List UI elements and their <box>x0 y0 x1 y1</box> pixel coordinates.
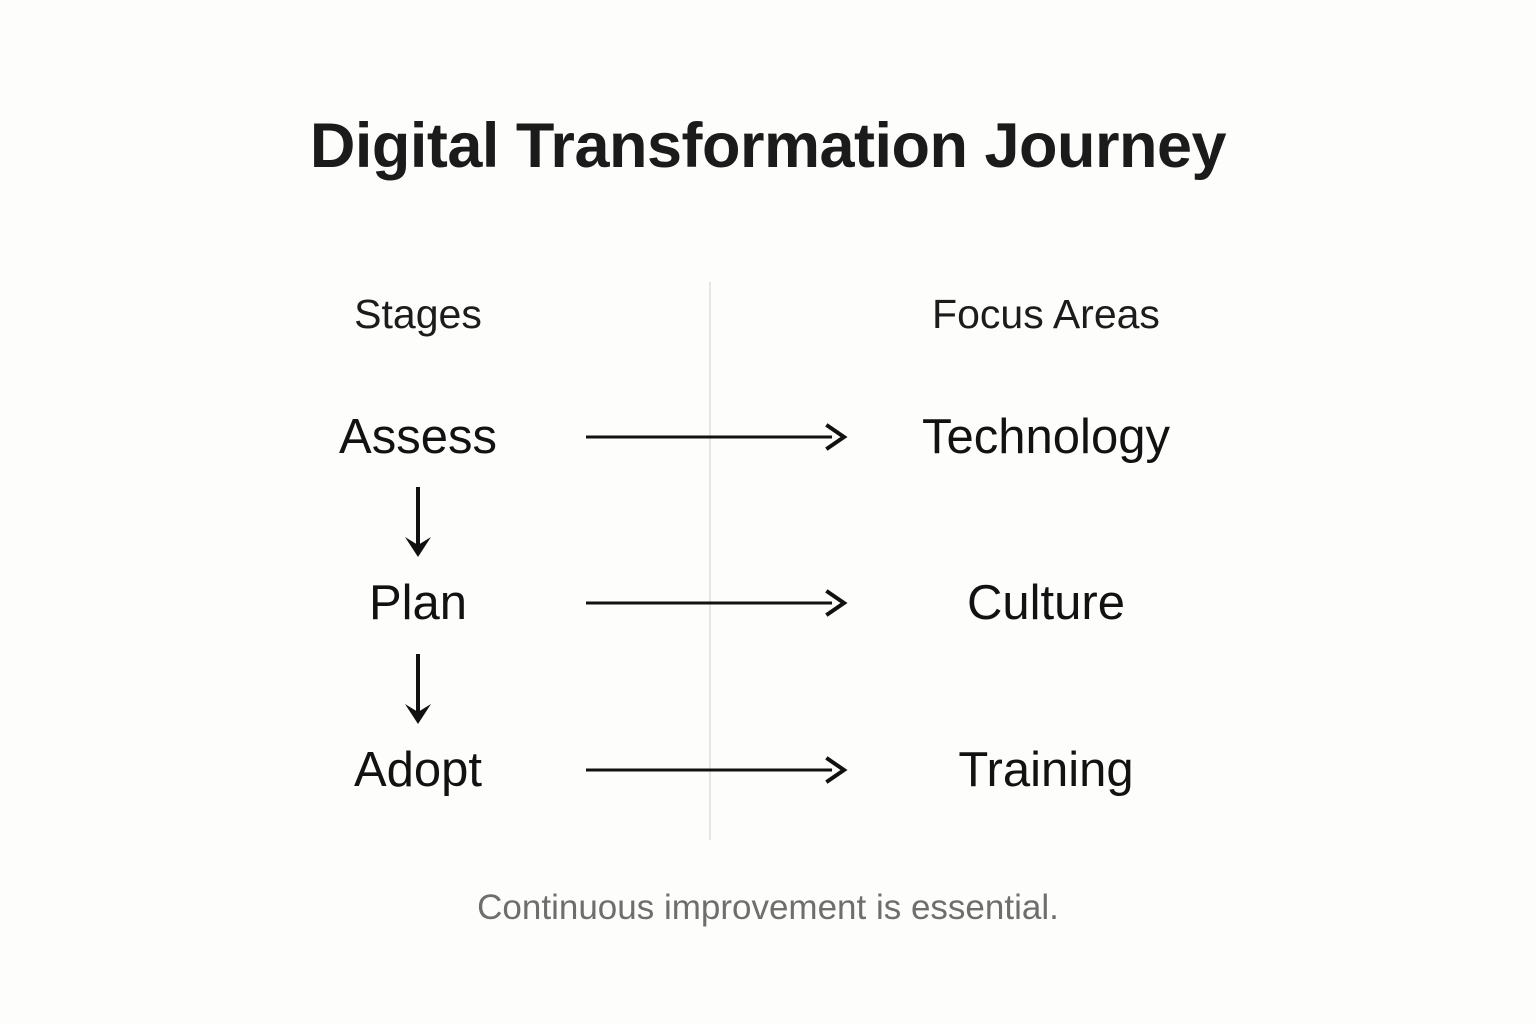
arrow-right-icon <box>586 753 848 787</box>
stage-node-adopt: Adopt <box>228 739 608 801</box>
arrow-right-icon <box>586 420 848 454</box>
diagram-canvas: Digital Transformation Journey Stages Fo… <box>0 0 1536 1024</box>
focus-node-culture: Culture <box>856 572 1236 634</box>
stage-node-assess: Assess <box>228 406 608 468</box>
focus-node-technology: Technology <box>856 406 1236 468</box>
stage-node-plan: Plan <box>228 572 608 634</box>
column-header-stages: Stages <box>228 288 608 340</box>
arrow-down-icon <box>398 487 438 559</box>
arrow-right-icon <box>586 586 848 620</box>
arrow-down-icon <box>398 654 438 726</box>
footer-caption: Continuous improvement is essential. <box>0 884 1536 932</box>
column-header-focus-areas: Focus Areas <box>856 288 1236 340</box>
focus-node-training: Training <box>856 739 1236 801</box>
page-title: Digital Transformation Journey <box>0 108 1536 184</box>
